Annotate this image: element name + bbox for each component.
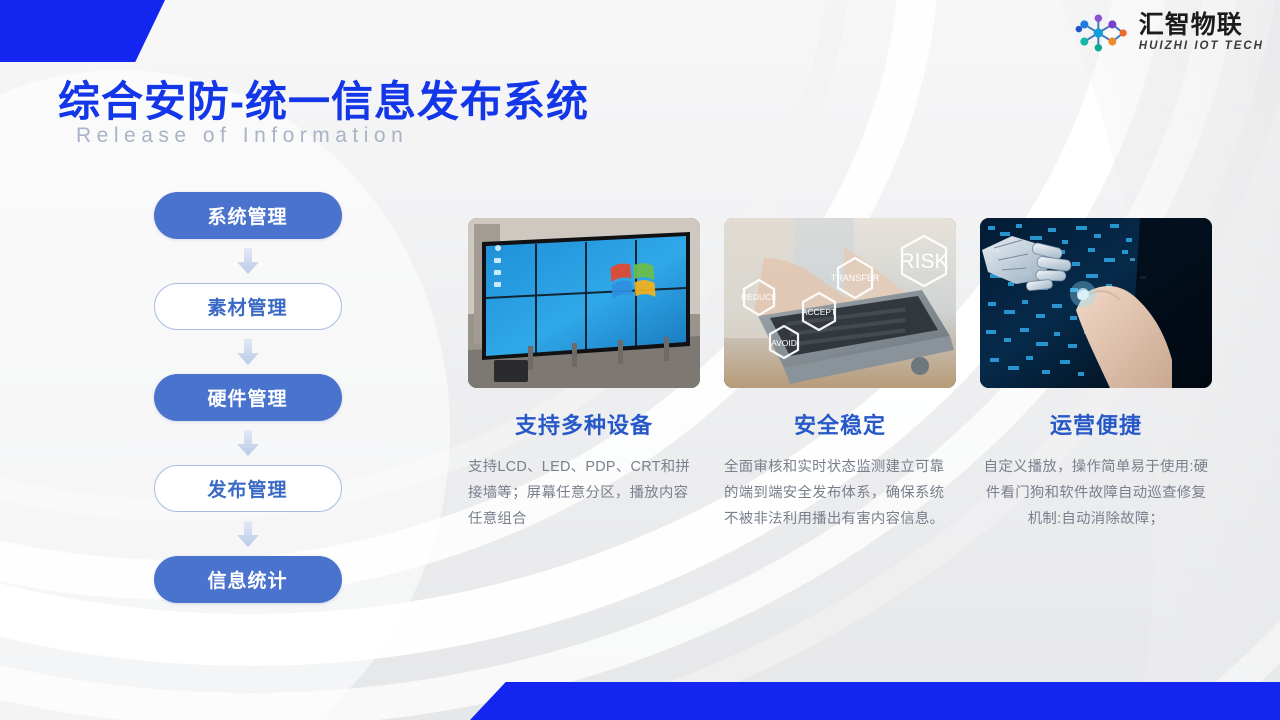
slide-canvas: 汇智物联 HUIZHI IOT TECH 综合安防-统一信息发布系统 Relea…: [0, 0, 1280, 720]
svg-text:REDUCE: REDUCE: [741, 292, 777, 302]
flow-step-label: 素材管理: [207, 293, 287, 320]
flow-step-label: 系统管理: [207, 202, 287, 229]
arrow-down-icon: [235, 338, 261, 366]
page-subtitle: Release of Information: [76, 124, 408, 148]
feature-card-title: 支持多种设备: [468, 408, 700, 440]
risk-management-photo: RISK TRANSFER ACCEPT REDUCE AVOID: [724, 218, 956, 388]
feature-card-body: 全面审核和实时状态监测建立可靠的端到端安全发布体系，确保系统不被非法利用播出有害…: [724, 454, 956, 532]
top-left-accent-shape: [0, 0, 165, 62]
molecule-network-icon: [1075, 12, 1131, 54]
process-flow: 系统管理 素材管理 硬件管理 发布管理: [150, 192, 345, 603]
svg-text:AVOID: AVOID: [771, 338, 797, 348]
flow-step-hardware-management[interactable]: 硬件管理: [154, 374, 342, 421]
flow-step-label: 硬件管理: [207, 384, 287, 411]
arrow-down-icon: [235, 520, 261, 548]
feature-card: RISK TRANSFER ACCEPT REDUCE AVOID 安全稳定 全…: [724, 218, 956, 532]
robot-hand-illustration-icon: [980, 218, 1212, 388]
svg-text:RISK: RISK: [899, 250, 948, 273]
bottom-right-accent-shape: [470, 682, 1280, 720]
brand-text: 汇智物联 HUIZHI IOT TECH: [1139, 12, 1264, 53]
robot-hand-data-photo: [980, 218, 1212, 388]
brand-name-cn: 汇智物联: [1139, 12, 1264, 38]
flow-step-publish-management[interactable]: 发布管理: [154, 465, 342, 512]
feature-card: 支持多种设备 支持LCD、LED、PDP、CRT和拼接墙等；屏幕任意分区，播放内…: [468, 218, 700, 532]
feature-card-body: 自定义播放，操作简单易于使用:硬件看门狗和软件故障自动巡查修复机制:自动消除故障…: [980, 454, 1212, 532]
flow-step-label: 发布管理: [207, 475, 287, 502]
flow-step-system-management[interactable]: 系统管理: [154, 192, 342, 239]
feature-card-title: 安全稳定: [724, 408, 956, 440]
flow-step-material-management[interactable]: 素材管理: [154, 283, 342, 330]
svg-text:TRANSFER: TRANSFER: [831, 273, 880, 283]
brand-logo: 汇智物联 HUIZHI IOT TECH: [1075, 12, 1264, 54]
arrow-down-icon: [235, 429, 261, 457]
feature-card-list: 支持多种设备 支持LCD、LED、PDP、CRT和拼接墙等；屏幕任意分区，播放内…: [468, 218, 1212, 532]
feature-card: 运营便捷 自定义播放，操作简单易于使用:硬件看门狗和软件故障自动巡查修复机制:自…: [980, 218, 1212, 532]
flow-step-label: 信息统计: [207, 566, 287, 593]
arrow-down-icon: [235, 247, 261, 275]
brand-name-en: HUIZHI IOT TECH: [1139, 39, 1264, 54]
video-wall-display-photo: [468, 218, 700, 388]
feature-card-body: 支持LCD、LED、PDP、CRT和拼接墙等；屏幕任意分区，播放内容任意组合: [468, 454, 700, 532]
flow-step-info-statistics[interactable]: 信息统计: [154, 556, 342, 603]
risk-hexagons-illustration-icon: RISK TRANSFER ACCEPT REDUCE AVOID: [724, 218, 956, 388]
page-title: 综合安防-统一信息发布系统: [58, 68, 589, 129]
feature-card-title: 运营便捷: [980, 408, 1212, 440]
video-wall-illustration-icon: [468, 218, 700, 388]
svg-text:ACCEPT: ACCEPT: [802, 307, 836, 317]
